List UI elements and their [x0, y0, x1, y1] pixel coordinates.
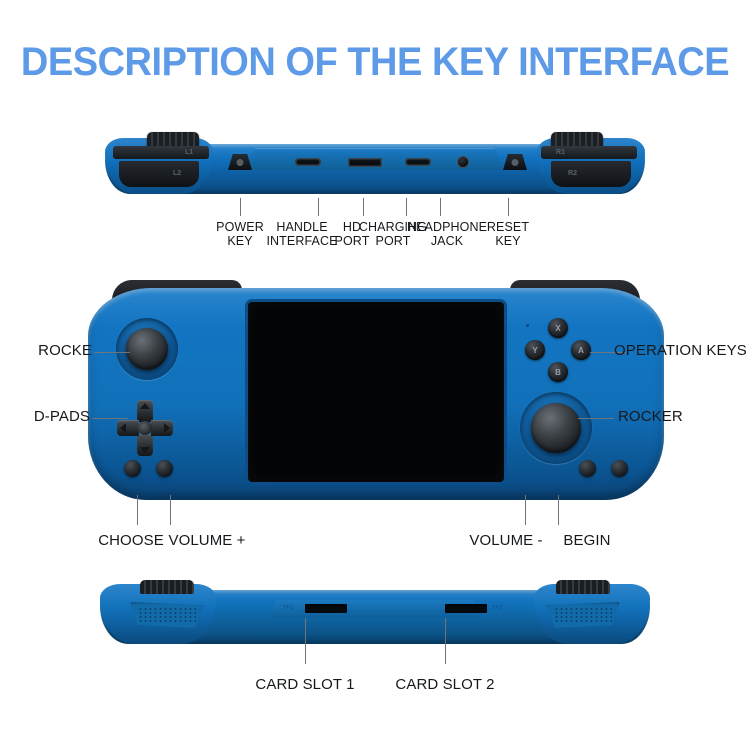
page-title: DESCRIPTION OF THE KEY INTERFACE: [19, 40, 732, 85]
page-root: DESCRIPTION OF THE KEY INTERFACE L1 L2 R…: [0, 0, 750, 750]
callout-volume-plus: VOLUME +: [168, 534, 245, 548]
leader-card-slot-2: [445, 618, 446, 664]
volume-up-button[interactable]: [156, 460, 173, 477]
bottom-edge-device-image: TF1 TF2: [100, 580, 650, 650]
volume-down-button-label: VOL-: [584, 479, 598, 485]
volume-up-button-label: VOL+: [157, 479, 172, 485]
dpad-up-icon: [140, 403, 150, 409]
callout-card-slot-1: CARD SLOT 1: [255, 678, 354, 692]
callout-choose: CHOOSE: [98, 534, 164, 548]
right-speaker-grille: [546, 602, 620, 628]
handle-interface-port-left[interactable]: [295, 158, 321, 166]
start-button[interactable]: [611, 460, 628, 477]
callout-begin: BEGIN: [563, 534, 610, 548]
charging-port[interactable]: [405, 158, 431, 166]
leader-choose: [137, 495, 138, 525]
card-slot-1[interactable]: [305, 604, 347, 613]
leader-reset-key: [508, 198, 509, 216]
headphone-jack[interactable]: [457, 156, 469, 168]
leader-hd-port: [363, 198, 364, 216]
leader-power-key: [240, 198, 241, 216]
r2-label: R2: [568, 170, 577, 177]
select-button-label: SELECT: [121, 479, 144, 485]
leader-dpads: [92, 418, 128, 419]
left-speaker-grille: [130, 602, 204, 628]
callout-dpads: D-PADS: [34, 410, 90, 424]
callout-card-slot-2: CARD SLOT 2: [395, 678, 494, 692]
leader-charging-port: [406, 198, 407, 216]
callout-left-rocker: ROCKE: [38, 344, 92, 358]
callout-power-key: POWER KEY: [216, 220, 264, 248]
callout-operation-keys: OPERATION KEYS: [614, 344, 747, 358]
device-screen[interactable]: [248, 302, 504, 482]
volume-down-button[interactable]: [579, 460, 596, 477]
card-slot-2-label: TF2: [492, 605, 502, 611]
leader-right-rocker: [578, 418, 614, 419]
l2-label: L2: [173, 170, 181, 177]
d-pad[interactable]: [117, 400, 173, 456]
button-y[interactable]: Y: [525, 340, 545, 360]
button-a[interactable]: A: [571, 340, 591, 360]
card-slot-2[interactable]: [445, 604, 487, 613]
leader-card-slot-1: [305, 618, 306, 664]
callout-right-rocker: ROCKER: [618, 410, 683, 424]
card-slot-1-label: TF1: [283, 605, 293, 611]
leader-headphone-jack: [440, 198, 441, 216]
leader-volume-minus: [525, 495, 526, 525]
leader-begin: [558, 495, 559, 525]
bottom-left-stick-top: [140, 580, 194, 594]
leader-handle-interface: [318, 198, 319, 216]
top-edge-device-image: L1 L2 R1 R2: [105, 132, 645, 200]
l2-shoulder-button[interactable]: [119, 161, 199, 187]
callout-headphone-jack: HEADPHONE JACK: [407, 220, 487, 248]
select-button[interactable]: [124, 460, 141, 477]
hd-port[interactable]: [348, 158, 382, 167]
r1-label: R1: [556, 149, 565, 156]
left-rocker[interactable]: [126, 328, 168, 370]
front-device-image: SELECT VOL+ X Y A B VOL- START: [88, 280, 664, 510]
right-rocker[interactable]: [531, 403, 581, 453]
callout-handle-interface: HANDLE INTERFACE: [266, 220, 337, 248]
callout-volume-minus: VOLUME -: [469, 534, 542, 548]
dpad-down-icon: [140, 447, 150, 453]
dpad-right-icon: [164, 423, 170, 433]
l1-label: L1: [185, 149, 193, 156]
r2-shoulder-button[interactable]: [551, 161, 631, 187]
status-led: [526, 324, 529, 327]
dpad-left-icon: [120, 423, 126, 433]
callout-reset-key: RESET KEY: [487, 220, 529, 248]
bottom-right-stick-top: [556, 580, 610, 594]
button-b[interactable]: B: [548, 362, 568, 382]
start-button-label: START: [610, 479, 629, 485]
leader-volume-plus: [170, 495, 171, 525]
button-x[interactable]: X: [548, 318, 568, 338]
leader-left-rocker: [94, 352, 130, 353]
l1-shoulder-button[interactable]: [113, 146, 209, 159]
